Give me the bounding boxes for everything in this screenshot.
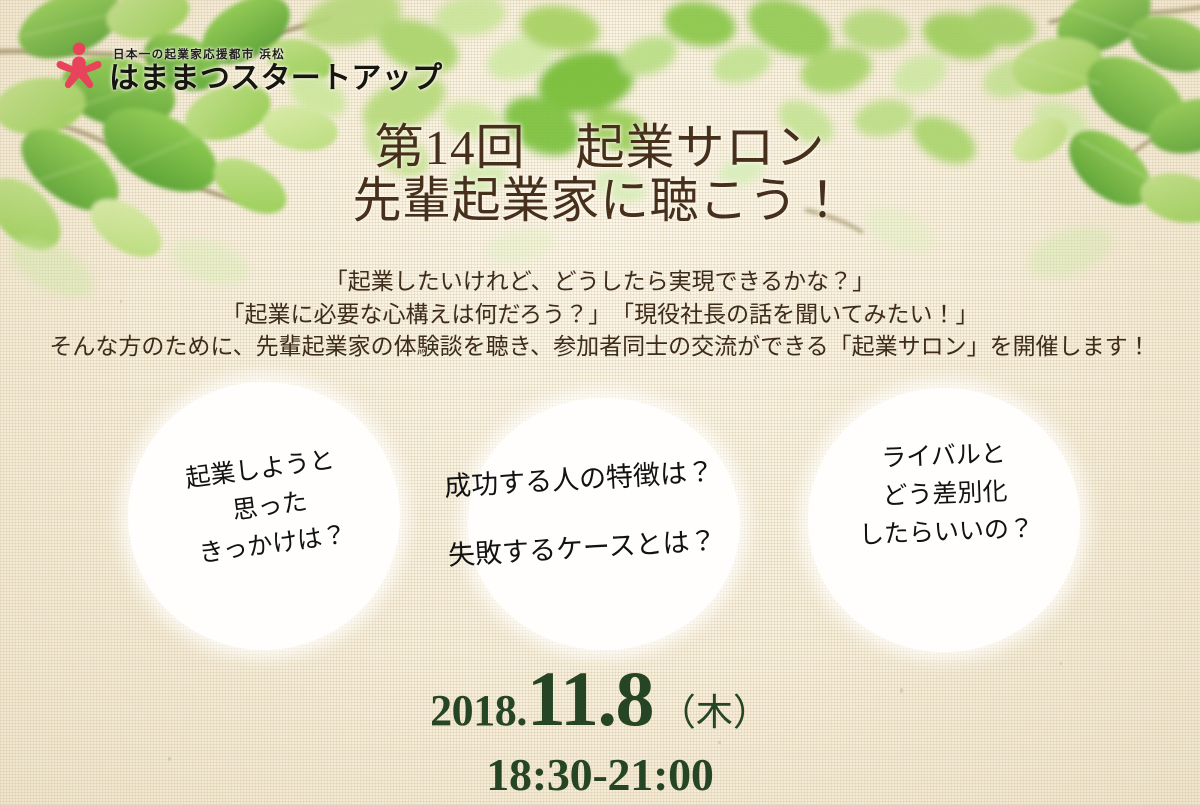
event-year: 2018. (430, 686, 527, 735)
event-time: 18:30-21:00 (0, 752, 1200, 798)
lead-line-1: 「起業したいけれど、どうしたら実現できるかな？」 (0, 266, 1200, 299)
headline-line-2: 先輩起業家に聴こう！ (0, 175, 1200, 228)
question-bubble-3-text: ライバルと どう差別化 したらいいの？ (840, 433, 1050, 555)
lead-line-2: 「起業に必要な心構えは何だろう？」 「現役社長の話を聞いてみたい！」 (0, 299, 1200, 332)
poster-lead-text: 「起業したいけれど、どうしたら実現できるかな？」 「起業に必要な心構えは何だろう… (0, 266, 1200, 364)
event-date-block: 2018.11.8（木） 18:30-21:00 (0, 660, 1200, 798)
headline-line-1: 第14回 起業サロン (0, 122, 1200, 175)
event-day-of-week: （木） (653, 693, 770, 734)
poster-canvas: 日本一の起業家応援都市 浜松 はままつスタートアップ 第14回 起業サロン 先輩… (0, 0, 1200, 805)
bubble-3-line-3: したらいいの？ (843, 509, 1050, 555)
event-month-day: 11.8 (527, 655, 653, 742)
lead-line-3: そんな方のために、先輩起業家の体験談を聴き、参加者同士の交流ができる「起業サロン… (0, 331, 1200, 364)
event-date-line: 2018.11.8（木） (0, 660, 1200, 738)
poster-headline: 第14回 起業サロン 先輩起業家に聴こう！ (0, 122, 1200, 228)
logo-name: はままつスタートアップ (109, 64, 442, 94)
hamamatsu-startup-logo: 日本一の起業家応援都市 浜松 はままつスタートアップ (55, 42, 442, 94)
hamamatsu-startup-person-mark-icon (55, 42, 103, 94)
logo-tagline: 日本一の起業家応援都市 浜松 (113, 50, 442, 62)
question-bubble-2-text: 成功する人の特徴は？ 失敗するケースとは？ (444, 456, 765, 569)
